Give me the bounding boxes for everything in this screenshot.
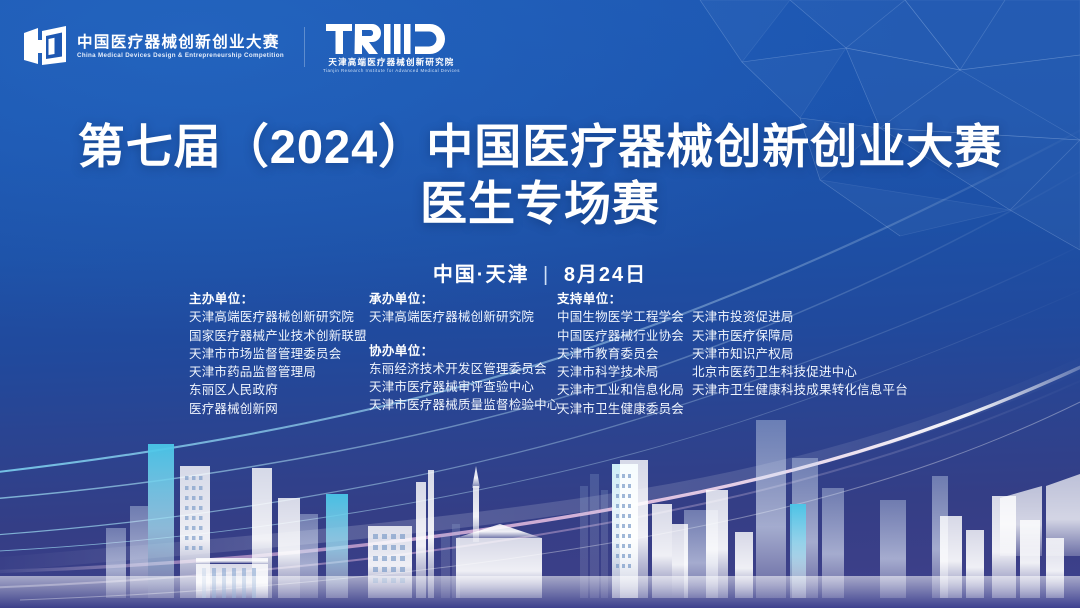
event-location: 中国·天津	[433, 264, 530, 286]
organizer-group: 天津市投资促进局 天津市医疗保障局 天津市知识产权局 北京市医药卫生科技促进中心…	[692, 290, 907, 400]
organizer-item: 天津高端医疗器械创新研究院	[189, 308, 369, 326]
organizer-column-3: 支持单位： 中国生物医学工程学会 中国医疗器械行业协会 天津市教育委员会 天津市…	[557, 290, 692, 418]
organizer-item: 北京市医药卫生科技促进中心	[692, 363, 907, 381]
organizer-item: 天津市医疗器械质量监督检验中心	[369, 396, 557, 414]
organizer-item: 天津市医疗器械审评查验中心	[369, 378, 557, 396]
competition-name-en: China Medical Devices Design & Entrepren…	[77, 53, 284, 60]
organizer-column-4: 天津市投资促进局 天津市医疗保障局 天津市知识产权局 北京市医药卫生科技促进中心…	[692, 290, 907, 400]
organizer-item: 天津市工业和信息化局	[557, 381, 692, 399]
trimd-wordmark-icon	[326, 22, 456, 56]
organizer-item: 中国医疗器械行业协会	[557, 327, 692, 345]
organizer-item: 天津市市场监督管理委员会	[189, 345, 369, 363]
organizer-item: 天津市卫生健康科技成果转化信息平台	[692, 381, 907, 399]
competition-name-cn: 中国医疗器械创新创业大赛	[77, 35, 284, 51]
organizer-item: 医疗器械创新网	[189, 400, 369, 418]
institute-name-en: Tianjin Research Institute for Advanced …	[323, 68, 460, 73]
header-logos: 中国医疗器械创新创业大赛 China Medical Devices Desig…	[22, 22, 460, 73]
poster-title: 第七届（2024）中国医疗器械创新创业大赛 医生专场赛	[0, 118, 1080, 233]
competition-logo[interactable]: 中国医疗器械创新创业大赛 China Medical Devices Desig…	[22, 24, 284, 70]
group-heading: 协办单位：	[369, 342, 557, 360]
logo-divider	[304, 27, 305, 67]
event-location-date: 中国·天津 | 8月24日	[0, 258, 1080, 287]
conference-poster: 中国医疗器械创新创业大赛 China Medical Devices Desig…	[0, 0, 1080, 608]
organizer-item: 东丽区人民政府	[189, 381, 369, 399]
group-heading: 支持单位：	[557, 290, 692, 308]
organizer-item: 中国生物医学工程学会	[557, 308, 692, 326]
open-door-logo-icon	[22, 24, 68, 70]
organizer-item: 天津市知识产权局	[692, 345, 907, 363]
institute-logo[interactable]: 天津高端医疗器械创新研究院 Tianjin Research Institute…	[323, 22, 460, 73]
organizer-group: 支持单位： 中国生物医学工程学会 中国医疗器械行业协会 天津市教育委员会 天津市…	[557, 290, 692, 418]
organizer-item: 天津市医疗保障局	[692, 327, 907, 345]
organizer-column-1: 主办单位： 天津高端医疗器械创新研究院 国家医疗器械产业技术创新联盟 天津市市场…	[189, 290, 369, 418]
organizer-item: 国家医疗器械产业技术创新联盟	[189, 327, 369, 345]
organizer-group: 协办单位： 东丽经济技术开发区管理委员会 天津市医疗器械审评查验中心 天津市医疗…	[369, 342, 557, 415]
organizer-item: 天津市教育委员会	[557, 345, 692, 363]
institute-name-cn: 天津高端医疗器械创新研究院	[328, 58, 454, 67]
title-line-1: 第七届（2024）中国医疗器械创新创业大赛	[0, 118, 1080, 175]
subtitle-separator: |	[543, 264, 550, 287]
organizer-item: 东丽经济技术开发区管理委员会	[369, 360, 557, 378]
title-line-2: 医生专场赛	[0, 175, 1080, 232]
organizer-group: 主办单位： 天津高端医疗器械创新研究院 国家医疗器械产业技术创新联盟 天津市市场…	[189, 290, 369, 418]
organizer-item: 天津高端医疗器械创新研究院	[369, 308, 557, 326]
group-heading: 承办单位：	[369, 290, 557, 308]
organizer-columns: 主办单位： 天津高端医疗器械创新研究院 国家医疗器械产业技术创新联盟 天津市市场…	[189, 290, 909, 418]
organizer-item: 天津市科学技术局	[557, 363, 692, 381]
organizer-item: 天津市卫生健康委员会	[557, 400, 692, 418]
organizer-column-2: 承办单位： 天津高端医疗器械创新研究院 协办单位： 东丽经济技术开发区管理委员会…	[369, 290, 557, 415]
organizer-group: 承办单位： 天津高端医疗器械创新研究院	[369, 290, 557, 327]
organizer-item: 天津市投资促进局	[692, 308, 907, 326]
group-heading: 主办单位：	[189, 290, 369, 308]
organizer-item: 天津市药品监督管理局	[189, 363, 369, 381]
event-date: 8月24日	[564, 264, 647, 286]
